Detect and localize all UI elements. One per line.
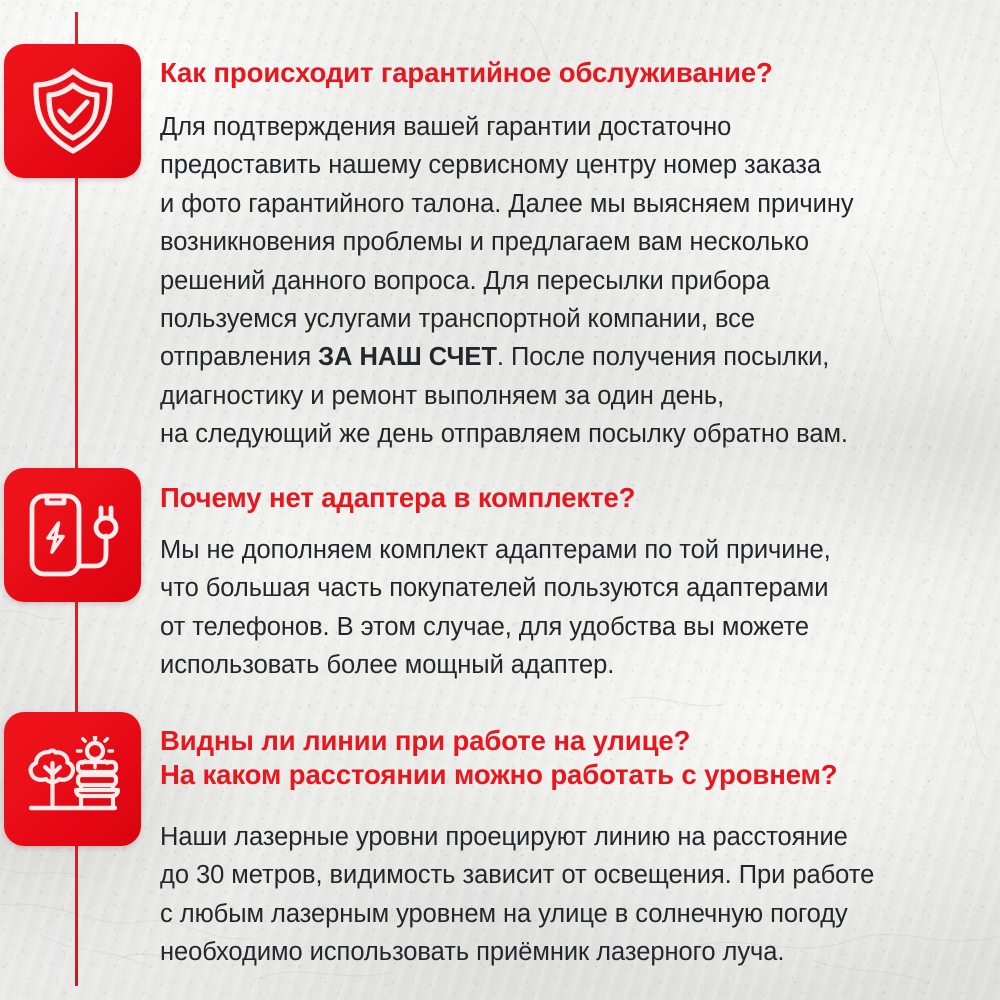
faq-heading: Как происходит гарантийное обслуживание?: [160, 56, 950, 90]
faq-body: Наши лазерные уровни проецируют линию на…: [160, 818, 970, 972]
faq-infographic-page: Как происходит гарантийное обслуживание?…: [0, 0, 1000, 1000]
faq-body: Для подтверждения вашей гарантии достато…: [160, 108, 960, 454]
faq-heading: Почему нет адаптера в комплекте?: [160, 481, 950, 515]
phone-charger-icon: [4, 468, 141, 602]
faq-body-emphasis: ЗА НАШ СЧЕТ: [318, 343, 497, 371]
faq-heading: Видны ли линии при работе на улице? На к…: [160, 724, 960, 792]
faq-body-part-1: Для подтверждения вашей гарантии достато…: [160, 113, 854, 371]
park-bench-sun-icon: [4, 712, 141, 846]
faq-body: Мы не дополняем комплект адаптерами по т…: [160, 531, 960, 685]
shield-check-icon: [4, 44, 141, 178]
